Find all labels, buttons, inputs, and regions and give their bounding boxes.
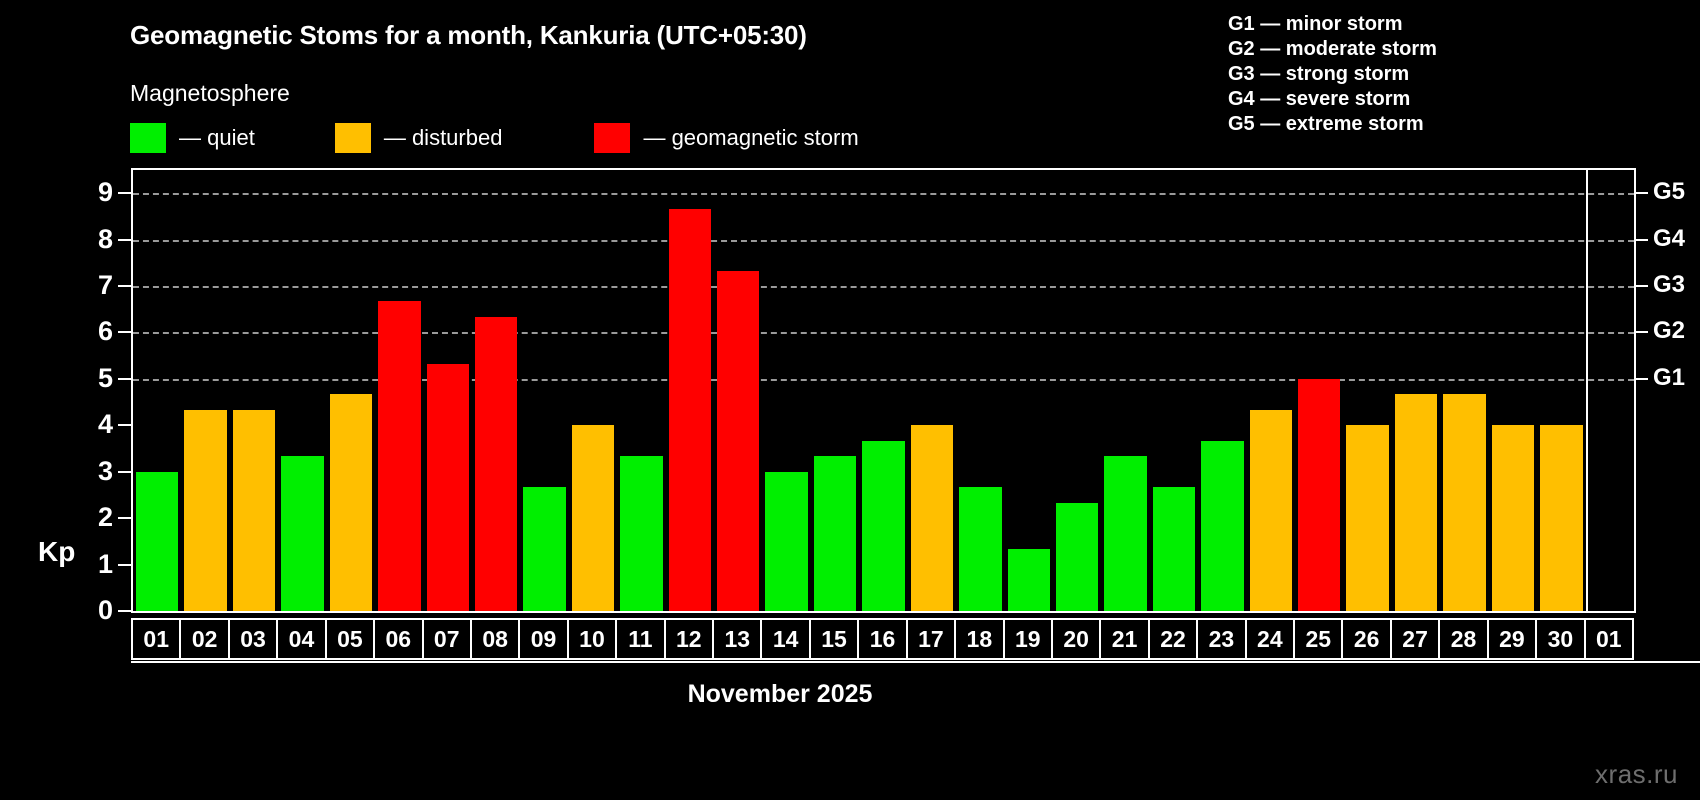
- color-legend: — quiet— disturbed— geomagnetic storm: [130, 122, 859, 154]
- bar-day-19[interactable]: [1008, 549, 1050, 611]
- x-axis-day-cell-17[interactable]: 18: [954, 618, 1004, 660]
- g-axis-tick-mark: [1636, 285, 1648, 287]
- bar-day-20[interactable]: [1056, 503, 1098, 611]
- g-scale-legend-line-1: G1 — minor storm: [1228, 12, 1437, 37]
- x-axis-day-cell-27[interactable]: 28: [1438, 618, 1488, 660]
- y-axis-tick-mark: [118, 424, 131, 426]
- x-axis-day-cell-29[interactable]: 30: [1535, 618, 1585, 660]
- x-axis-day-cell-14[interactable]: 15: [809, 618, 859, 660]
- x-axis-day-cell-23[interactable]: 24: [1245, 618, 1295, 660]
- g-axis-tick-label: G5: [1653, 177, 1685, 207]
- y-axis-tick-mark: [118, 239, 131, 241]
- x-axis-day-cell-6[interactable]: 07: [422, 618, 472, 660]
- legend-label-disturbed: — disturbed: [384, 127, 503, 149]
- g-scale-legend-line-5: G5 — extreme storm: [1228, 112, 1437, 137]
- x-axis-day-cell-25[interactable]: 26: [1341, 618, 1391, 660]
- bar-day-29[interactable]: [1492, 425, 1534, 611]
- g-scale-legend: G1 — minor stormG2 — moderate stormG3 — …: [1228, 12, 1437, 137]
- y-axis: Kp 0123456789: [0, 168, 131, 613]
- g-scale-legend-line-2: G2 — moderate storm: [1228, 37, 1437, 62]
- bar-day-24[interactable]: [1250, 410, 1292, 611]
- geomagnetic-storm-chart: Geomagnetic Stoms for a month, Kankuria …: [0, 0, 1700, 800]
- x-axis-day-cell-20[interactable]: 21: [1099, 618, 1149, 660]
- legend-entry-quiet: — quiet: [130, 122, 255, 154]
- plot-inner: [133, 170, 1634, 611]
- y-axis-tick-label: 4: [98, 409, 113, 439]
- x-axis-day-cell-10[interactable]: 11: [615, 618, 665, 660]
- x-axis-day-cell-5[interactable]: 06: [373, 618, 423, 660]
- x-axis-day-cell-16[interactable]: 17: [906, 618, 956, 660]
- y-axis-tick-label: 5: [98, 363, 113, 393]
- x-axis-baseline: [131, 661, 1700, 663]
- g-scale-legend-line-4: G4 — severe storm: [1228, 87, 1437, 112]
- y-axis-tick-label: 6: [98, 316, 113, 346]
- x-axis-day-cell-15[interactable]: 16: [857, 618, 907, 660]
- g-axis-tick-label: G2: [1653, 316, 1685, 346]
- x-axis-day-cell-18[interactable]: 19: [1003, 618, 1053, 660]
- bar-day-02[interactable]: [184, 410, 226, 611]
- g-axis-tick-label: G4: [1653, 224, 1685, 254]
- bars-layer: [133, 170, 1634, 611]
- bar-day-17[interactable]: [911, 425, 953, 611]
- y-axis-tick-mark: [118, 471, 131, 473]
- bar-day-26[interactable]: [1346, 425, 1388, 611]
- g-axis-tick-label: G1: [1653, 363, 1685, 393]
- g-scale-legend-line-3: G3 — strong storm: [1228, 62, 1437, 87]
- legend-label-quiet: — quiet: [179, 127, 255, 149]
- bar-day-30[interactable]: [1540, 425, 1582, 611]
- bar-day-15[interactable]: [814, 456, 856, 611]
- bar-day-22[interactable]: [1153, 487, 1195, 611]
- bar-day-08[interactable]: [475, 317, 517, 611]
- y-axis-tick-label: 0: [98, 595, 113, 625]
- magnetosphere-label: Magnetosphere: [130, 80, 290, 107]
- page-title: Geomagnetic Stoms for a month, Kankuria …: [130, 20, 807, 51]
- bar-day-09[interactable]: [523, 487, 565, 611]
- bar-day-11[interactable]: [620, 456, 662, 611]
- month-boundary-separator: [1586, 170, 1588, 611]
- bar-day-25[interactable]: [1298, 379, 1340, 611]
- bar-day-06[interactable]: [378, 301, 420, 611]
- x-axis-day-cell-7[interactable]: 08: [470, 618, 520, 660]
- bar-day-16[interactable]: [862, 441, 904, 611]
- legend-entry-disturbed: — disturbed: [335, 122, 503, 154]
- x-axis-day-cell-9[interactable]: 10: [567, 618, 617, 660]
- bar-day-13[interactable]: [717, 271, 759, 611]
- bar-day-04[interactable]: [281, 456, 323, 611]
- x-axis-day-cell-4[interactable]: 05: [325, 618, 375, 660]
- x-axis-day-cell-22[interactable]: 23: [1196, 618, 1246, 660]
- x-axis-day-cells: 0102030405060708091011121314151617181920…: [131, 618, 1632, 660]
- x-axis-title: November 2025: [0, 680, 1700, 709]
- x-axis-day-cell-0[interactable]: 01: [131, 618, 181, 660]
- y-axis-tick-mark: [118, 378, 131, 380]
- bar-day-27[interactable]: [1395, 394, 1437, 611]
- plot-area: [131, 168, 1636, 613]
- x-axis-day-cell-1[interactable]: 02: [179, 618, 229, 660]
- x-axis-day-cell-3[interactable]: 04: [276, 618, 326, 660]
- bar-day-03[interactable]: [233, 410, 275, 611]
- x-axis-day-cell-24[interactable]: 25: [1293, 618, 1343, 660]
- legend-entry-geomagnetic-storm: — geomagnetic storm: [594, 122, 858, 154]
- y-axis-title: Kp: [38, 536, 75, 568]
- y-axis-tick-mark: [118, 285, 131, 287]
- g-axis-tick-label: G3: [1653, 270, 1685, 300]
- x-axis-day-cell-11[interactable]: 12: [664, 618, 714, 660]
- y-axis-tick-mark: [118, 610, 131, 612]
- bar-day-21[interactable]: [1104, 456, 1146, 611]
- g-axis-tick-mark: [1636, 239, 1648, 241]
- x-axis-day-cell-8[interactable]: 09: [518, 618, 568, 660]
- y-axis-tick-mark: [118, 331, 131, 333]
- legend-swatch-quiet-icon: [130, 123, 166, 153]
- x-axis-day-cell-26[interactable]: 27: [1390, 618, 1440, 660]
- watermark: xras.ru: [1595, 759, 1678, 790]
- x-axis-day-cell-28[interactable]: 29: [1487, 618, 1537, 660]
- x-axis-day-cell-2[interactable]: 03: [228, 618, 278, 660]
- legend-label-geomagnetic-storm: — geomagnetic storm: [643, 127, 858, 149]
- x-axis-day-cell-30[interactable]: 01: [1584, 618, 1634, 660]
- bar-day-18[interactable]: [959, 487, 1001, 611]
- g-axis-tick-mark: [1636, 192, 1648, 194]
- g-axis-tick-mark: [1636, 378, 1648, 380]
- y-axis-tick-mark: [118, 192, 131, 194]
- y-axis-tick-mark: [118, 517, 131, 519]
- y-axis-tick-label: 3: [98, 456, 113, 486]
- y-axis-tick-label: 8: [98, 224, 113, 254]
- y-axis-tick-mark: [118, 564, 131, 566]
- y-axis-tick-label: 9: [98, 177, 113, 207]
- bar-day-12[interactable]: [669, 209, 711, 611]
- bar-day-01[interactable]: [136, 472, 178, 611]
- y-axis-tick-label: 7: [98, 270, 113, 300]
- x-axis-day-cell-21[interactable]: 22: [1148, 618, 1198, 660]
- bar-day-07[interactable]: [427, 364, 469, 611]
- x-axis-day-cell-12[interactable]: 13: [712, 618, 762, 660]
- g-axis-tick-mark: [1636, 331, 1648, 333]
- bar-day-05[interactable]: [330, 394, 372, 611]
- x-axis-day-cell-13[interactable]: 14: [760, 618, 810, 660]
- legend-swatch-disturbed-icon: [335, 123, 371, 153]
- bar-day-23[interactable]: [1201, 441, 1243, 611]
- bar-day-10[interactable]: [572, 425, 614, 611]
- x-axis-day-cell-19[interactable]: 20: [1051, 618, 1101, 660]
- g-scale-axis: G1G2G3G4G5: [1636, 168, 1700, 613]
- legend-swatch-geomagnetic-storm-icon: [594, 123, 630, 153]
- bar-day-14[interactable]: [765, 472, 807, 611]
- y-axis-tick-label: 1: [98, 549, 113, 579]
- y-axis-tick-label: 2: [98, 502, 113, 532]
- bar-day-28[interactable]: [1443, 394, 1485, 611]
